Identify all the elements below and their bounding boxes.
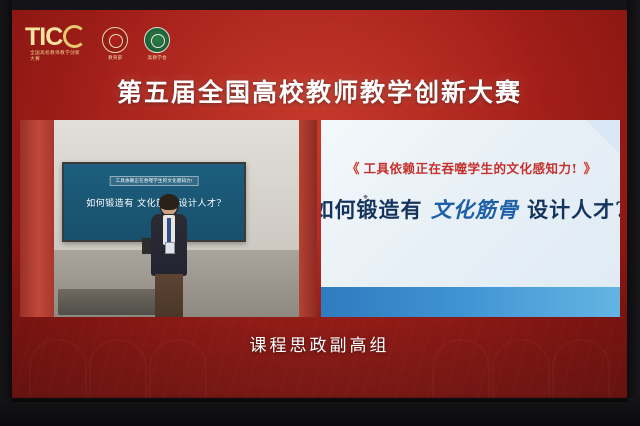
seal-red-logo: 教育部 bbox=[102, 27, 128, 60]
slide-bottom-bar bbox=[321, 287, 620, 317]
headline-highlight: 文化筋骨 bbox=[431, 197, 519, 222]
slide-banner: 《 工具依赖正在吞噬学生的文化感知力! 》 bbox=[346, 158, 594, 177]
board-banner-text: 工具依赖正在吞噬学生的文化感知力! bbox=[110, 176, 199, 186]
screenshot-stage: TIC 全国高校教师教学创新大赛 教育部 高教学会 第五届全国高校教师教学创新大… bbox=[0, 0, 640, 426]
headline-part-1: 如何锻造有 bbox=[321, 197, 423, 222]
room-ceiling-band bbox=[0, 0, 640, 10]
room-floor-foreground bbox=[0, 398, 640, 426]
slide-headline: 如何锻造有 文化筋骨 设计人才? bbox=[321, 194, 620, 224]
shared-slide-pane: 《 工具依赖正在吞噬学生的文化感知力! 》 ⌖ 如何锻造有 文化筋骨 设计人才? bbox=[321, 120, 620, 317]
wordmark-text: TIC bbox=[25, 25, 62, 50]
presenter-figure bbox=[148, 196, 190, 317]
slide-corner-decoration bbox=[586, 120, 620, 154]
wordmark-caption: 全国高校教师教学创新大赛 bbox=[30, 50, 84, 61]
screen-drop-shadow bbox=[11, 396, 628, 402]
room-curtain-right bbox=[299, 120, 317, 317]
competition-wordmark-logo: TIC 全国高校教师教学创新大赛 bbox=[25, 25, 86, 62]
presenter-badge bbox=[165, 242, 175, 254]
slide-banner-text: 工具依赖正在吞噬学生的文化感知力! bbox=[364, 158, 578, 177]
seal-green-label: 高教学会 bbox=[148, 55, 167, 60]
seal-green-logo: 高教学会 bbox=[144, 27, 170, 60]
banner-left-chevron-icon: 《 bbox=[346, 158, 357, 177]
room-wall-right bbox=[627, 0, 640, 426]
screen-caption: 课程思政副高组 bbox=[11, 331, 628, 356]
room-wall-left bbox=[0, 0, 12, 426]
banner-right-chevron-icon: 》 bbox=[584, 158, 595, 177]
room-curtain-left bbox=[20, 120, 54, 317]
wordmark-ring-icon bbox=[63, 25, 86, 48]
seal-green-icon bbox=[144, 27, 170, 53]
logo-row: TIC 全国高校教师教学创新大赛 教育部 高教学会 bbox=[25, 25, 170, 62]
video-panes: 工具依赖正在吞噬学生的文化感知力! 如何锻造有 文化筋骨 设计人才? bbox=[20, 120, 620, 317]
classroom-camera-pane: 工具依赖正在吞噬学生的文化感知力! 如何锻造有 文化筋骨 设计人才? bbox=[20, 120, 317, 317]
headline-part-2: 设计人才? bbox=[527, 197, 620, 222]
screen-title: 第五届全国高校教师教学创新大赛 bbox=[11, 73, 628, 109]
seal-red-icon bbox=[102, 27, 128, 53]
projected-screen: TIC 全国高校教师教学创新大赛 教育部 高教学会 第五届全国高校教师教学创新大… bbox=[11, 9, 628, 401]
seal-red-label: 教育部 bbox=[108, 55, 122, 60]
